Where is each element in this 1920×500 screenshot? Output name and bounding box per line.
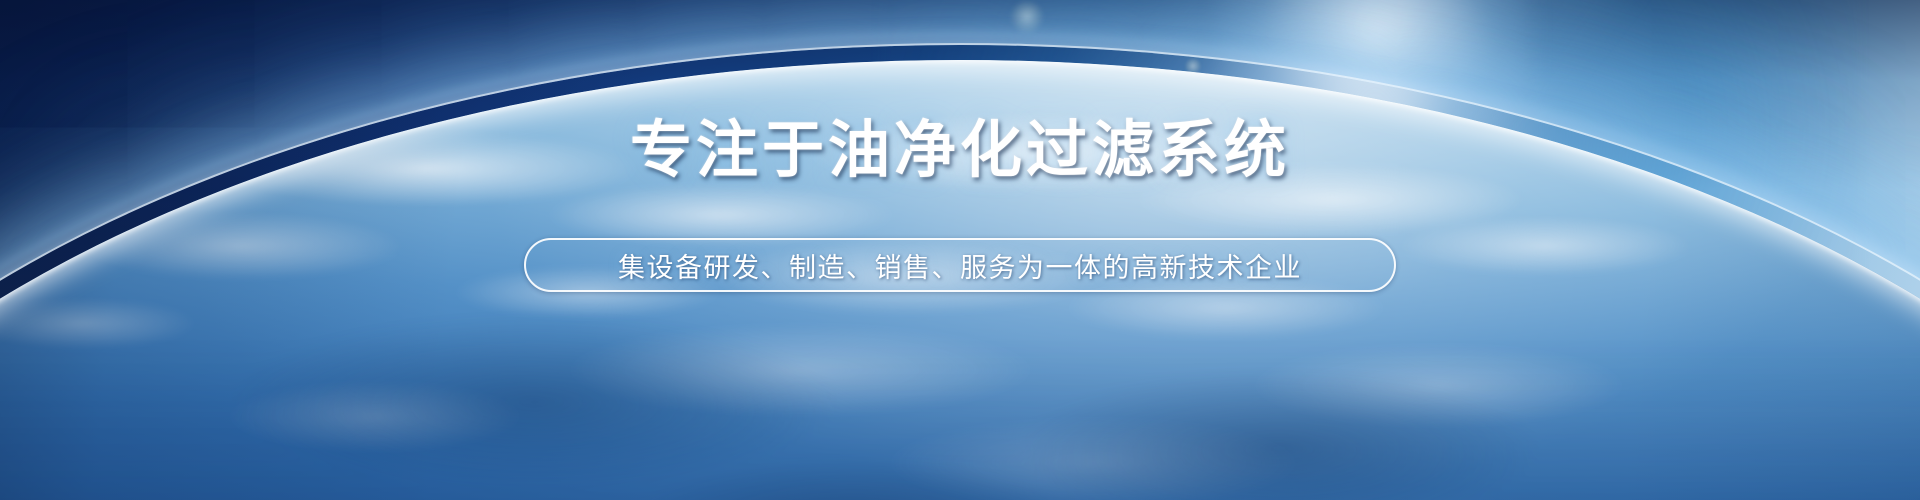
banner-subtitle: 集设备研发、制造、销售、服务为一体的高新技术企业 (618, 246, 1302, 285)
subtitle-pill: 集设备研发、制造、销售、服务为一体的高新技术企业 (524, 238, 1396, 292)
hero-banner: 专注于油净化过滤系统 集设备研发、制造、销售、服务为一体的高新技术企业 (0, 0, 1920, 500)
banner-headline: 专注于油净化过滤系统 (0, 118, 1920, 184)
banner-content: 专注于油净化过滤系统 集设备研发、制造、销售、服务为一体的高新技术企业 (0, 0, 1920, 500)
